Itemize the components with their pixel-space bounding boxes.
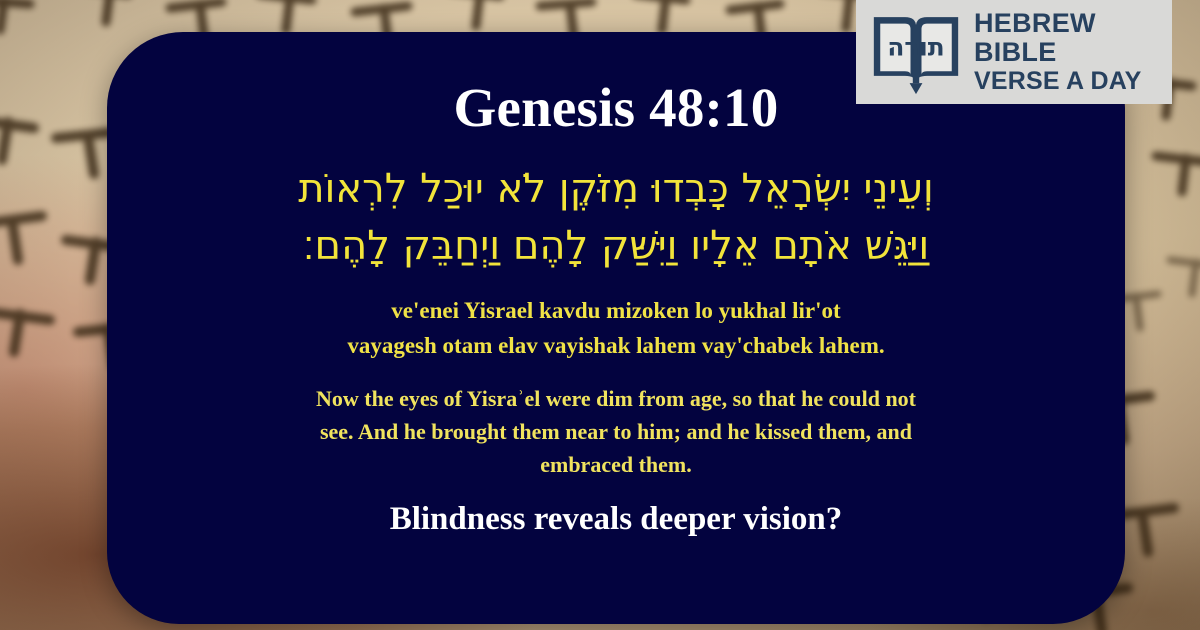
verse-image-canvas: Genesis 48:10 וְעֵינֵי יִשְׂרָאֵל כָּבְד… [0,0,1200,630]
brand-wordmark: HEBREW BIBLE VERSE A DAY [974,10,1142,94]
verse-card: Genesis 48:10 וְעֵינֵי יִשְׂרָאֵל כָּבְד… [107,32,1125,624]
transliteration-line: ve'enei Yisrael kavdu mizoken lo yukhal … [347,293,884,329]
english-translation-block: Now the eyes of Yisraʾel were dim from a… [216,382,1016,481]
english-line: embraced them. [216,448,1016,481]
english-line: Now the eyes of Yisraʾel were dim from a… [216,382,1016,415]
page-title: Genesis 48:10 [454,80,779,135]
english-line: see. And he brought them near to him; an… [216,415,1016,448]
brand-line-3: VERSE A DAY [974,69,1142,94]
hebrew-line: וְעֵינֵי יִשְׂרָאֵל כָּבְדוּ מִזֹּקֶן לֹ… [143,161,1089,218]
brand-logo-badge[interactable]: תורה HEBREW BIBLE VERSE A DAY [856,0,1172,104]
open-book-icon: תורה [870,8,962,96]
brand-line-2: BIBLE [974,39,1142,66]
brand-line-1: HEBREW [974,10,1142,37]
hebrew-verse-block: וְעֵינֵי יִשְׂרָאֵל כָּבְדוּ מִזֹּקֶן לֹ… [143,161,1089,275]
transliteration-line: vayagesh otam elav vayishak lahem vay'ch… [347,328,884,364]
hebrew-line: וַיַּגֵּשׁ אֹתָם אֵלָיו וַיִּשַּׁק לָהֶם… [143,218,1089,275]
tagline: Blindness reveals deeper vision? [390,501,843,537]
transliteration-block: ve'enei Yisrael kavdu mizoken lo yukhal … [347,293,884,364]
book-hebrew-text: תורה [887,33,944,62]
